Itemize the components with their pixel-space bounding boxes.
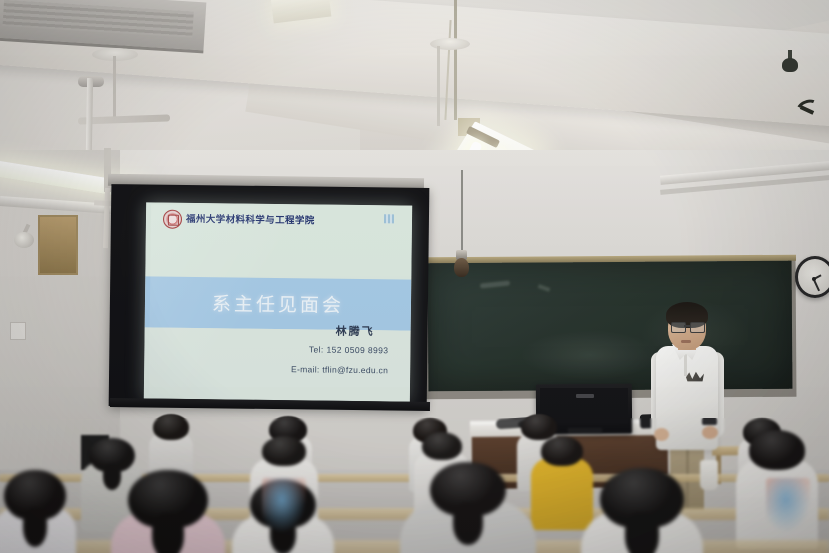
graphic-tee-print-right — [766, 478, 810, 532]
student-ponytail — [625, 512, 659, 553]
student-head — [422, 432, 462, 460]
student-mid-4 — [536, 436, 588, 508]
student-ponytail — [23, 507, 48, 547]
classroom-photo: 福州大学材料科学与工程学院 系主任见面会 林腾飞 Tel: 152 0509 8… — [0, 0, 829, 553]
student-head — [153, 414, 189, 440]
student-back-1 — [152, 414, 190, 474]
student-front-4 — [410, 462, 526, 553]
graphic-tee-print-left — [262, 478, 306, 532]
student-front-2 — [120, 470, 216, 553]
student-torso — [531, 458, 592, 530]
student-ponytail — [453, 502, 483, 545]
student-ponytail — [152, 513, 184, 553]
coffee-cup — [700, 460, 718, 490]
student-front-5 — [590, 468, 694, 553]
student-head — [262, 436, 306, 466]
student-head — [541, 436, 583, 466]
student-head — [749, 430, 805, 470]
student-front-1 — [0, 470, 70, 553]
audience — [0, 0, 829, 553]
